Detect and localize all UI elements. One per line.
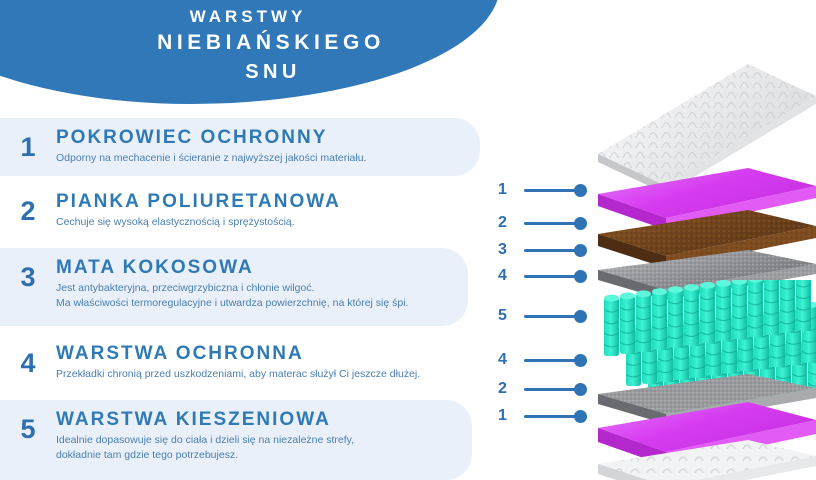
mattress-layer-cover-bottom (598, 440, 816, 480)
layer-list-item-text: POKROWIEC OCHRONNYOdporny na mechacenie … (56, 118, 500, 165)
layer-list-item-description: Cechuje się wysoką elastycznością i sprę… (56, 215, 500, 229)
layer-list-item-text: WARSTWA OCHRONNAPrzekładki chronią przed… (56, 334, 500, 381)
layer-list-item-title: WARSTWA KIESZENIOWA (56, 407, 500, 432)
pocket-spring (716, 280, 731, 341)
diagram-callout[interactable]: 2 (498, 379, 587, 399)
layer-list-item-number: 1 (0, 118, 56, 161)
layer-list-item-title: WARSTWA OCHRONNA (56, 341, 500, 366)
diagram-callout-number: 4 (498, 266, 520, 286)
pocket-spring (732, 280, 747, 339)
diagram-callout-leader-line (524, 222, 576, 225)
header-title-line-3: SNU (46, 58, 500, 86)
layer-list-item-number: 2 (0, 182, 56, 225)
pocket-spring (652, 288, 667, 349)
layer-list-item-description: Ma właściwości termoregulacyjne i utward… (56, 296, 500, 310)
diagram-callout[interactable]: 5 (498, 306, 587, 326)
layer-list-item[interactable]: 3MATA KOKOSOWAJest antybakteryjna, przec… (0, 248, 500, 326)
diagram-callout-number: 1 (498, 180, 520, 200)
diagram-callout-number: 1 (498, 406, 520, 426)
layer-list-item-title: POKROWIEC OCHRONNY (56, 125, 500, 150)
diagram-callout-number: 2 (498, 379, 520, 399)
pocket-spring (620, 293, 635, 354)
diagram-callout-number: 3 (498, 240, 520, 260)
layer-list-item-content: 3MATA KOKOSOWAJest antybakteryjna, przec… (0, 248, 500, 310)
diagram-callout-dot (574, 383, 587, 396)
layer-list-item-text: MATA KOKOSOWAJest antybakteryjna, przeci… (56, 248, 500, 310)
layer-list-item[interactable]: 2PIANKA POLIURETANOWACechuje się wysoką … (0, 182, 500, 240)
diagram-callout-leader-line (524, 359, 576, 362)
layer-list-item-description: dokładnie tam gdzie tego potrzebujesz. (56, 448, 500, 462)
pocket-spring (780, 280, 795, 333)
diagram-callout-number: 5 (498, 306, 520, 326)
layer-list-item-title: MATA KOKOSOWA (56, 255, 500, 280)
layer-list-item-title: PIANKA POLIURETANOWA (56, 189, 500, 214)
diagram-callout-leader-line (524, 415, 576, 418)
diagram-callout[interactable]: 4 (498, 266, 587, 286)
layer-list-item-description: Idealnie dopasowuje się do ciała i dziel… (56, 433, 500, 447)
diagram-callout-number: 4 (498, 350, 520, 370)
diagram-callout-leader-line (524, 315, 576, 318)
mattress-diagram (598, 58, 816, 478)
diagram-callout[interactable]: 1 (498, 406, 587, 426)
layer-list-item-number: 3 (0, 248, 56, 291)
diagram-callout-dot (574, 410, 587, 423)
mattress-layer-cover-top (598, 58, 816, 178)
diagram-callout-dot (574, 184, 587, 197)
pocket-spring (668, 286, 683, 347)
layer-list-item-description: Odporny na mechacenie i ścieranie z najw… (56, 151, 500, 165)
layer-list-item-text: WARSTWA KIESZENIOWAIdealnie dopasowuje s… (56, 400, 500, 462)
layer-list-item-content: 5WARSTWA KIESZENIOWAIdealnie dopasowuje … (0, 400, 500, 462)
layer-list-item[interactable]: 5WARSTWA KIESZENIOWAIdealnie dopasowuje … (0, 400, 500, 480)
header-title-line-1: WARSTWY (0, 6, 500, 28)
diagram-callout[interactable]: 1 (498, 180, 587, 200)
layer-list-item-text: PIANKA POLIURETANOWACechuje się wysoką e… (56, 182, 500, 229)
layer-list-item-content: 4WARSTWA OCHRONNAPrzekładki chronią prze… (0, 334, 500, 381)
diagram-callout[interactable]: 4 (498, 350, 587, 370)
diagram-callout-leader-line (524, 189, 576, 192)
diagram-callout-leader-line (524, 275, 576, 278)
header-title-line-2: NIEBIAŃSKIEGO (42, 28, 500, 58)
infographic-root: WARSTWY NIEBIAŃSKIEGO SNU 1POKROWIEC OCH… (0, 0, 816, 480)
layer-list-item-description: Jest antybakteryjna, przeciwgrzybiczna i… (56, 281, 500, 295)
diagram-callout-dot (574, 270, 587, 283)
diagram-callout-leader-line (524, 388, 576, 391)
pocket-spring (748, 280, 763, 337)
layer-list-item-description: Przekładki chronią przed uszkodzeniami, … (56, 367, 500, 381)
diagram-callout-number: 2 (498, 213, 520, 233)
diagram-callout[interactable]: 2 (498, 213, 587, 233)
pocket-spring (700, 282, 715, 343)
diagram-callout-dot (574, 244, 587, 257)
layer-list-item-number: 5 (0, 400, 56, 443)
pocket-spring (796, 280, 811, 331)
diagram-callout-dot (574, 217, 587, 230)
header-title-block: WARSTWY NIEBIAŃSKIEGO SNU (0, 6, 500, 86)
pocket-spring (684, 284, 699, 345)
diagram-callout[interactable]: 3 (498, 240, 587, 260)
pocket-spring (604, 295, 619, 356)
pocket-spring (764, 280, 779, 335)
layer-list-item-number: 4 (0, 334, 56, 377)
layer-list-item[interactable]: 1POKROWIEC OCHRONNYOdporny na mechacenie… (0, 118, 500, 176)
diagram-callout-leader-line (524, 249, 576, 252)
diagram-callout-dot (574, 354, 587, 367)
pocket-spring (636, 290, 651, 351)
layer-list-item-content: 2PIANKA POLIURETANOWACechuje się wysoką … (0, 182, 500, 229)
layer-list-item-content: 1POKROWIEC OCHRONNYOdporny na mechacenie… (0, 118, 500, 165)
layer-list-item[interactable]: 4WARSTWA OCHRONNAPrzekładki chronią prze… (0, 334, 500, 392)
diagram-callout-dot (574, 310, 587, 323)
